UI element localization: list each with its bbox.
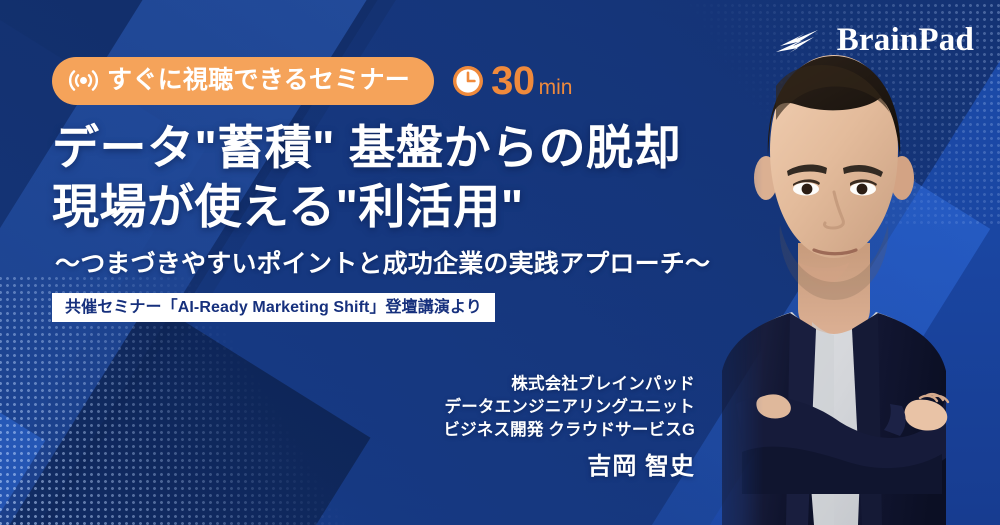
clock-icon (451, 64, 485, 98)
source-ribbon-label: 共催セミナー「AI-Ready Marketing Shift」登壇講演より (65, 300, 482, 316)
headline: データ"蓄積" 基盤からの脱却 現場が使える"利活用" (52, 118, 681, 236)
background-diagonal-light-lower (0, 250, 45, 525)
headline-line-1: データ"蓄積" 基盤からの脱却 (52, 118, 681, 177)
speaker-portrait (680, 0, 1000, 525)
live-badge-label: すぐに視聴できるセミナー (107, 68, 410, 93)
seminar-banner: BrainPad すぐに視聴できるセミナー (0, 0, 1000, 525)
speaker-group: ビジネス開発 クラウドサービスG (443, 419, 695, 442)
duration-value: 30 (491, 61, 535, 101)
speaker-info: 株式会社ブレインパッド データエンジニアリングユニット ビジネス開発 クラウドサ… (443, 373, 695, 479)
background-diagonal-dark-lower (0, 300, 370, 525)
brainpad-logo[interactable]: BrainPad (774, 24, 974, 57)
badge-row: すぐに視聴できるセミナー 30 min (52, 57, 572, 105)
duration-unit: min (539, 77, 573, 98)
speaker-name: 吉岡 智史 (443, 455, 695, 479)
speaker-unit: データエンジニアリングユニット (443, 396, 695, 419)
live-seminar-badge[interactable]: すぐに視聴できるセミナー (52, 57, 434, 105)
broadcast-icon (69, 66, 98, 95)
duration-indicator: 30 min (451, 61, 572, 101)
speaker-company: 株式会社ブレインパッド (443, 373, 695, 396)
subtitle: ～つまづきやすいポイントと成功企業の実践アプローチ～ (55, 250, 710, 279)
source-ribbon: 共催セミナー「AI-Ready Marketing Shift」登壇講演より (52, 293, 495, 322)
brainpad-wordmark: BrainPad (837, 24, 974, 57)
lightning-arrow-mark-icon (774, 26, 830, 56)
headline-line-2: 現場が使える"利活用" (52, 177, 681, 236)
